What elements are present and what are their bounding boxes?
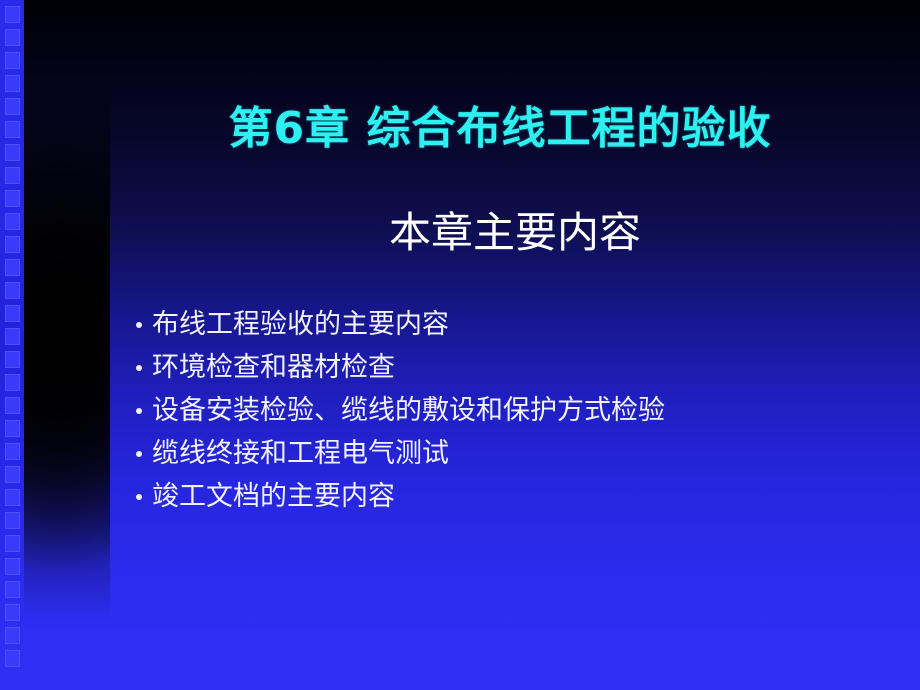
decorative-square <box>5 52 20 69</box>
decorative-square <box>5 443 20 460</box>
decorative-square <box>5 144 20 161</box>
decorative-square <box>5 535 20 552</box>
decorative-square <box>5 466 20 483</box>
list-item-label: 设备安装检验、缆线的敷设和保护方式检验 <box>152 395 665 426</box>
decorative-square <box>5 6 20 23</box>
slide-subtitle: 本章主要内容 <box>110 199 920 260</box>
decorative-square <box>5 121 20 138</box>
list-item: 竣工文档的主要内容 <box>134 475 834 518</box>
decorative-square <box>5 282 20 299</box>
presentation-slide: 第6章 综合布线工程的验收 本章主要内容 布线工程验收的主要内容环境检查和器材检… <box>0 0 920 690</box>
decorative-square <box>5 328 20 345</box>
bullet-dot-icon <box>136 494 142 500</box>
list-item-label: 布线工程验收的主要内容 <box>152 309 449 340</box>
bullet-dot-icon <box>136 451 142 457</box>
left-strip-square-column <box>5 0 21 690</box>
decorative-square <box>5 397 20 414</box>
decorative-square <box>5 420 20 437</box>
decorative-square <box>5 351 20 368</box>
decorative-square <box>5 558 20 575</box>
decorative-square <box>5 167 20 184</box>
slide-background-dark-band <box>20 60 110 620</box>
decorative-square <box>5 213 20 230</box>
decorative-square <box>5 627 20 644</box>
list-item: 环境检查和器材检查 <box>134 346 834 389</box>
decorative-square <box>5 581 20 598</box>
list-item: 布线工程验收的主要内容 <box>134 303 834 346</box>
decorative-square <box>5 190 20 207</box>
bullet-dot-icon <box>136 408 142 414</box>
bullet-dot-icon <box>136 365 142 371</box>
decorative-square <box>5 305 20 322</box>
decorative-square <box>5 650 20 667</box>
list-item: 设备安装检验、缆线的敷设和保护方式检验 <box>134 389 834 432</box>
list-item-label: 环境检查和器材检查 <box>152 352 395 383</box>
bullet-dot-icon <box>136 322 142 328</box>
decorative-square <box>5 259 20 276</box>
list-item-label: 缆线终接和工程电气测试 <box>152 438 449 469</box>
slide-title: 第6章 综合布线工程的验收 <box>110 92 890 156</box>
list-item-label: 竣工文档的主要内容 <box>152 481 395 512</box>
decorative-square <box>5 489 20 506</box>
decorative-square <box>5 512 20 529</box>
list-item: 缆线终接和工程电气测试 <box>134 432 834 475</box>
bullet-list: 布线工程验收的主要内容环境检查和器材检查设备安装检验、缆线的敷设和保护方式检验缆… <box>134 303 834 518</box>
decorative-square <box>5 604 20 621</box>
decorative-square <box>5 374 20 391</box>
decorative-square <box>5 29 20 46</box>
decorative-square <box>5 75 20 92</box>
decorative-square <box>5 236 20 253</box>
decorative-square <box>5 98 20 115</box>
